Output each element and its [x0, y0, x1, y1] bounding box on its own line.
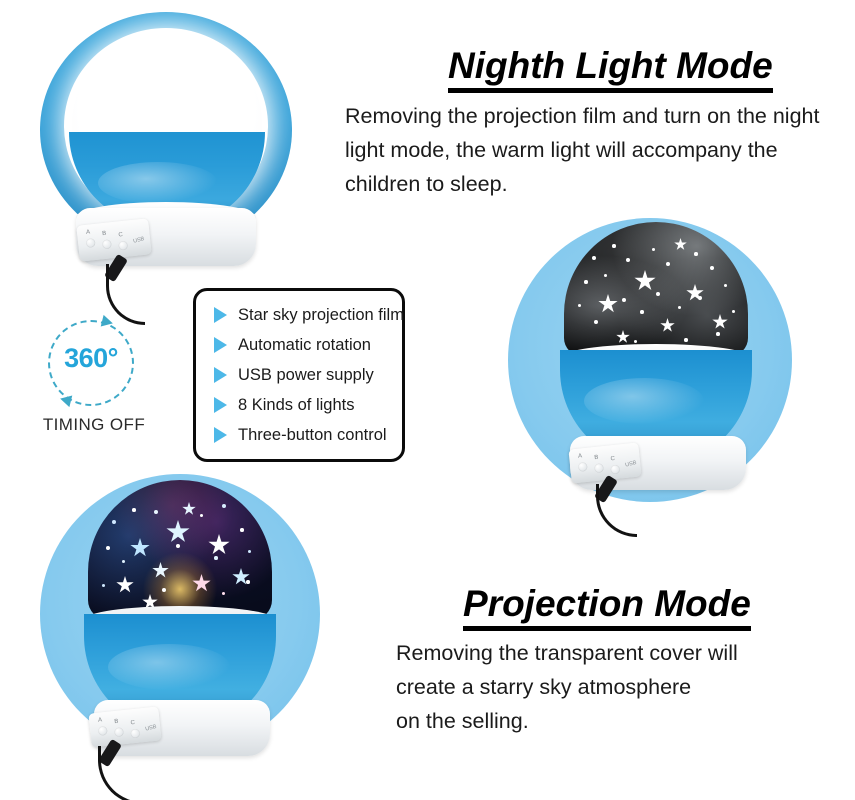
- lamp-body-highlight: [108, 644, 230, 690]
- lamp-button-a: [98, 726, 108, 736]
- dome-dot: [102, 584, 105, 587]
- product-infographic: A B C USB Nighth Light Mode Removing the…: [0, 0, 855, 800]
- dome-dot: [246, 580, 250, 584]
- lamp-body-highlight: [584, 378, 704, 424]
- dome-dot: [106, 546, 110, 550]
- dome-dot: [248, 550, 251, 553]
- lamp-usb-port-label: USB: [625, 460, 637, 469]
- projection-mode-heading: Projection Mode: [463, 583, 751, 631]
- night-light-description-line-2: light mode, the warm light will accompan…: [345, 134, 819, 168]
- dome-dot: [222, 592, 225, 595]
- dome-dot: [592, 256, 596, 260]
- projection-mode-heading-text: Projection Mode: [463, 583, 751, 631]
- dome-dot: [732, 310, 735, 313]
- dome-star: [634, 270, 656, 292]
- dome-star: [712, 314, 728, 330]
- lamp-bowl-highlight: [98, 162, 218, 204]
- projection-description-line-1: Removing the transparent cover will: [396, 637, 738, 671]
- dome-star: [192, 574, 211, 593]
- dome-dot: [594, 320, 598, 324]
- projection-description-line-2: create a starry sky atmosphere: [396, 671, 738, 705]
- feature-list-item: USB power supply: [196, 360, 402, 390]
- feature-label: Three-button control: [238, 426, 387, 445]
- dome-star: [166, 520, 190, 544]
- feature-label: 8 Kinds of lights: [238, 396, 354, 415]
- dome-dot: [678, 306, 681, 309]
- dome-dot: [698, 296, 702, 300]
- lamp-usb-port-label: USB: [145, 724, 157, 733]
- lamp-button-label-b: B: [594, 455, 599, 461]
- projection-description-line-3: on the selling.: [396, 705, 738, 739]
- night-light-mode-heading: Nighth Light Mode: [448, 45, 773, 93]
- lamp-button-b: [114, 727, 124, 737]
- dome-dot: [200, 514, 203, 517]
- lamp-power-cable: [98, 746, 143, 800]
- dome-dot: [112, 520, 116, 524]
- lamp-button-c: [610, 465, 620, 475]
- dome-dot: [652, 248, 655, 251]
- dome-dot: [162, 588, 166, 592]
- dome-star: [116, 576, 134, 594]
- rotation-degrees-label: 360°: [48, 343, 134, 374]
- feature-list-item: Star sky projection film: [196, 300, 402, 330]
- dome-dot: [666, 262, 670, 266]
- dome-dot: [724, 284, 727, 287]
- dome-dot: [634, 340, 637, 343]
- triangle-bullet-icon: [214, 397, 227, 413]
- triangle-bullet-icon: [214, 427, 227, 443]
- dome-dot: [240, 528, 244, 532]
- lamp-button-label-c: C: [118, 232, 123, 238]
- feature-label: Star sky projection film: [238, 306, 404, 325]
- dome-dot: [154, 510, 158, 514]
- feature-list-box: Star sky projection film Automatic rotat…: [193, 288, 405, 462]
- lamp-power-cable: [106, 264, 145, 325]
- lamp-button-c: [118, 241, 128, 251]
- night-light-description-line-3: children to sleep.: [345, 168, 819, 202]
- dome-star: [208, 534, 230, 556]
- dome-dot: [716, 332, 720, 336]
- lamp-button-label-a: A: [86, 229, 91, 235]
- lamp-button-label-b: B: [102, 231, 107, 237]
- lamp-button-a: [578, 462, 588, 472]
- night-light-lamp-image: A B C USB: [28, 12, 308, 282]
- dome-dot: [214, 556, 218, 560]
- dome-dot: [584, 280, 588, 284]
- timing-off-label: TIMING OFF: [30, 415, 158, 435]
- lamp-button-label-b: B: [114, 719, 119, 725]
- rotation-arrow-left-icon: [59, 393, 73, 407]
- lamp-button-label-a: A: [578, 453, 583, 459]
- rotation-badge: 360° TIMING OFF: [38, 318, 150, 440]
- dome-star: [660, 318, 675, 333]
- lamp-button-a: [86, 238, 96, 248]
- star-projection-lamp-image: A B C USB: [508, 218, 808, 508]
- dome-star: [674, 238, 687, 251]
- dome-dot: [684, 338, 688, 342]
- dome-dot: [612, 244, 616, 248]
- dome-star: [152, 562, 169, 579]
- dome-star: [616, 330, 630, 344]
- lamp-button-b: [594, 463, 604, 473]
- dome-dot: [622, 298, 626, 302]
- lamp-button-c: [130, 729, 140, 739]
- triangle-bullet-icon: [214, 367, 227, 383]
- dome-star: [182, 502, 196, 516]
- projection-mode-lamp-image: A B C USB: [40, 474, 340, 774]
- dome-star: [598, 294, 618, 314]
- projection-mode-description: Removing the transparent cover will crea…: [396, 637, 738, 739]
- feature-label: USB power supply: [238, 366, 374, 385]
- triangle-bullet-icon: [214, 307, 227, 323]
- dome-dot: [176, 544, 180, 548]
- lamp-button-label-a: A: [98, 717, 103, 723]
- dome-dot: [710, 266, 714, 270]
- triangle-bullet-icon: [214, 337, 227, 353]
- lamp-power-cable: [596, 484, 637, 537]
- feature-list-item: 8 Kinds of lights: [196, 390, 402, 420]
- dome-dot: [222, 504, 226, 508]
- dome-dot: [122, 560, 125, 563]
- lamp-button-panel: A B C USB: [76, 218, 151, 261]
- dome-dot: [694, 252, 698, 256]
- feature-label: Automatic rotation: [238, 336, 371, 355]
- feature-list-item: Three-button control: [196, 420, 402, 450]
- lamp-usb-port-label: USB: [133, 236, 145, 245]
- lamp-button-panel: A B C USB: [88, 706, 161, 747]
- dome-dot: [132, 508, 136, 512]
- dome-dot: [604, 274, 607, 277]
- dome-star: [130, 538, 150, 558]
- lamp-button-label-c: C: [130, 720, 135, 726]
- night-light-mode-heading-text: Nighth Light Mode: [448, 45, 773, 93]
- dome-dot: [626, 258, 630, 262]
- lamp-button-b: [102, 239, 112, 249]
- dome-dot: [656, 292, 660, 296]
- dome-dot: [640, 310, 644, 314]
- feature-list-item: Automatic rotation: [196, 330, 402, 360]
- dome-dot: [578, 304, 581, 307]
- night-light-mode-description: Removing the projection film and turn on…: [345, 100, 819, 202]
- lamp-button-label-c: C: [610, 456, 615, 462]
- night-light-description-line-1: Removing the projection film and turn on…: [345, 100, 819, 134]
